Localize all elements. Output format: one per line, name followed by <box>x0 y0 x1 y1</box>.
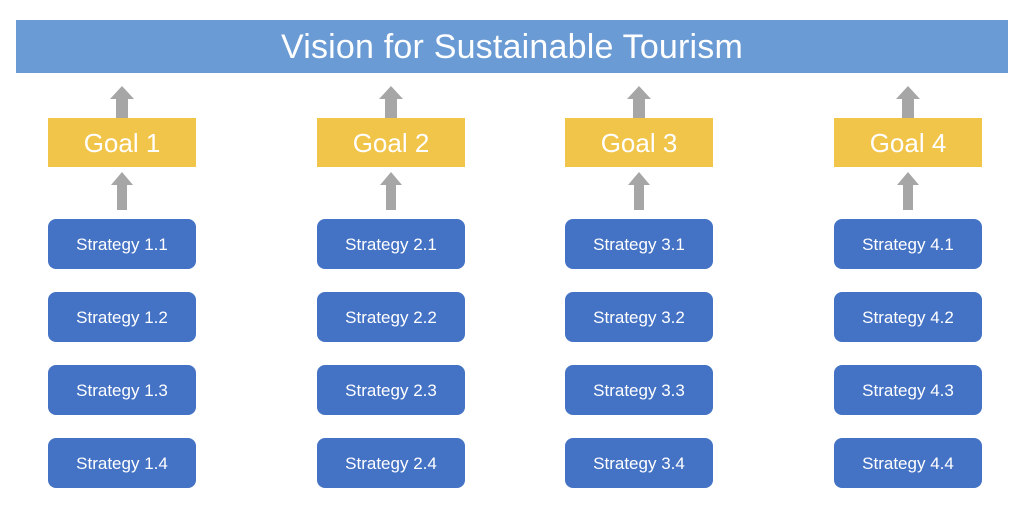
goal-box-4[interactable]: Goal 4 <box>834 118 982 167</box>
goal-column-2: Goal 2 Strategy 2.1 Strategy 2.2 Strateg… <box>317 0 465 506</box>
strategy-label: Strategy 1.1 <box>76 236 168 253</box>
strategy-box[interactable]: Strategy 4.4 <box>834 438 982 488</box>
strategy-box[interactable]: Strategy 4.1 <box>834 219 982 269</box>
strategy-box[interactable]: Strategy 2.1 <box>317 219 465 269</box>
goal-column-3: Goal 3 Strategy 3.1 Strategy 3.2 Strateg… <box>565 0 713 506</box>
goal-label: Goal 2 <box>353 130 430 156</box>
strategy-label: Strategy 1.3 <box>76 382 168 399</box>
arrow-up-icon <box>110 86 134 118</box>
goal-label: Goal 1 <box>84 130 161 156</box>
strategy-box[interactable]: Strategy 2.2 <box>317 292 465 342</box>
strategy-label: Strategy 4.2 <box>862 309 954 326</box>
goal-column-4: Goal 4 Strategy 4.1 Strategy 4.2 Strateg… <box>834 0 982 506</box>
goal-label: Goal 3 <box>601 130 678 156</box>
goal-box-3[interactable]: Goal 3 <box>565 118 713 167</box>
strategy-box[interactable]: Strategy 1.2 <box>48 292 196 342</box>
strategy-label: Strategy 2.3 <box>345 382 437 399</box>
strategy-label: Strategy 4.3 <box>862 382 954 399</box>
strategy-box[interactable]: Strategy 4.3 <box>834 365 982 415</box>
arrow-up-icon <box>896 86 920 118</box>
strategy-label: Strategy 4.1 <box>862 236 954 253</box>
strategy-box[interactable]: Strategy 4.2 <box>834 292 982 342</box>
arrow-up-icon <box>379 86 403 118</box>
arrow-up-icon <box>628 172 650 210</box>
strategy-box[interactable]: Strategy 3.3 <box>565 365 713 415</box>
strategy-label: Strategy 3.4 <box>593 455 685 472</box>
goal-column-1: Goal 1 Strategy 1.1 Strategy 1.2 Strateg… <box>48 0 196 506</box>
strategy-label: Strategy 2.1 <box>345 236 437 253</box>
strategy-box[interactable]: Strategy 1.3 <box>48 365 196 415</box>
strategy-label: Strategy 4.4 <box>862 455 954 472</box>
strategy-label: Strategy 3.2 <box>593 309 685 326</box>
arrow-up-icon <box>627 86 651 118</box>
strategy-box[interactable]: Strategy 2.4 <box>317 438 465 488</box>
strategy-label: Strategy 3.3 <box>593 382 685 399</box>
strategy-label: Strategy 2.2 <box>345 309 437 326</box>
arrow-up-icon <box>897 172 919 210</box>
strategy-label: Strategy 1.4 <box>76 455 168 472</box>
strategy-box[interactable]: Strategy 3.1 <box>565 219 713 269</box>
strategy-box[interactable]: Strategy 2.3 <box>317 365 465 415</box>
strategy-label: Strategy 2.4 <box>345 455 437 472</box>
strategy-box[interactable]: Strategy 3.4 <box>565 438 713 488</box>
diagram-canvas: Vision for Sustainable Tourism Goal 1 St… <box>0 0 1024 506</box>
strategy-label: Strategy 1.2 <box>76 309 168 326</box>
goal-box-2[interactable]: Goal 2 <box>317 118 465 167</box>
strategy-box[interactable]: Strategy 1.1 <box>48 219 196 269</box>
goal-box-1[interactable]: Goal 1 <box>48 118 196 167</box>
goal-label: Goal 4 <box>870 130 947 156</box>
strategy-box[interactable]: Strategy 1.4 <box>48 438 196 488</box>
arrow-up-icon <box>380 172 402 210</box>
strategy-box[interactable]: Strategy 3.2 <box>565 292 713 342</box>
arrow-up-icon <box>111 172 133 210</box>
strategy-label: Strategy 3.1 <box>593 236 685 253</box>
